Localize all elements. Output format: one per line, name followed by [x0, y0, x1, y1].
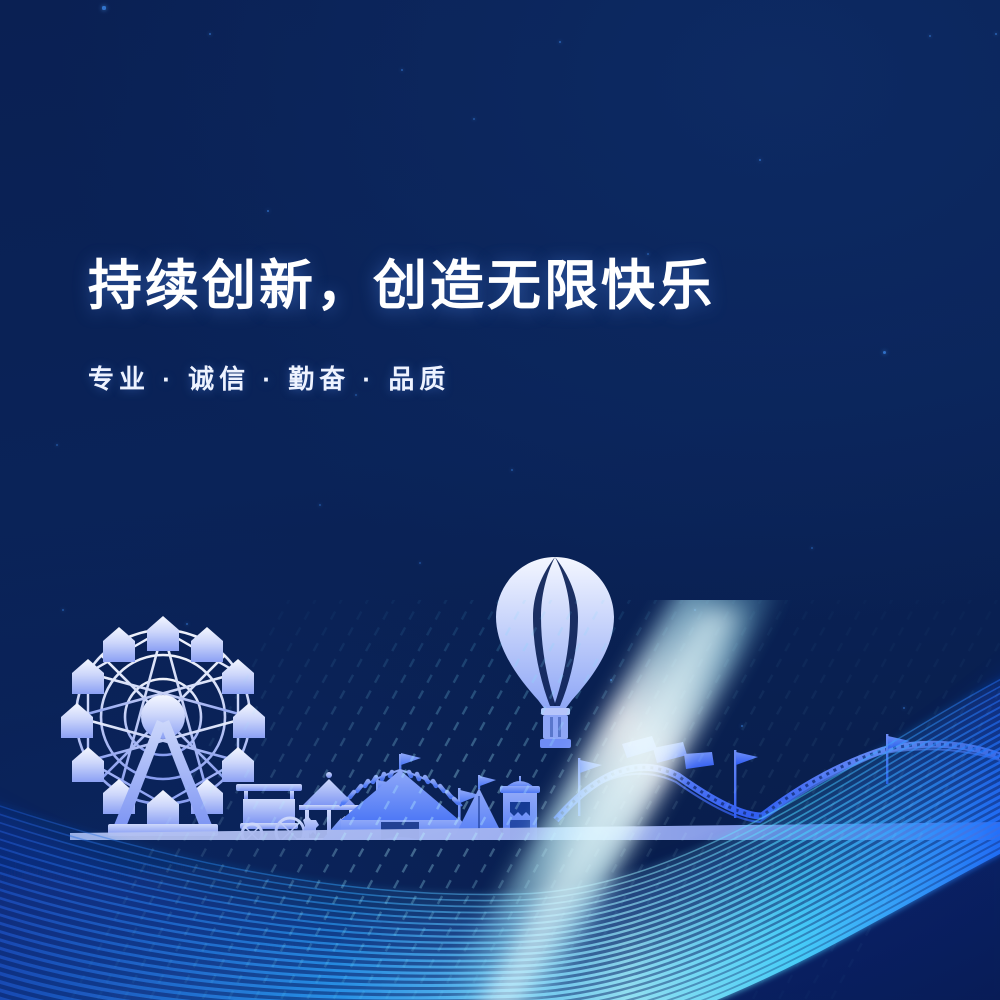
particle-dot: [995, 33, 998, 36]
particle-dot: [473, 118, 475, 120]
page-subtitle: 专业 · 诚信 · 勤奋 · 品质: [88, 359, 908, 396]
glowing-light-wave: [0, 600, 1000, 1000]
particle-dot: [209, 33, 211, 35]
particle-dot: [319, 504, 321, 506]
particle-dot: [559, 41, 562, 44]
particle-dot: [759, 159, 762, 162]
hero-text-block: 持续创新，创造无限快乐 专业 · 诚信 · 勤奋 · 品质: [88, 255, 908, 396]
particle-dot: [102, 6, 105, 9]
particle-dot: [929, 35, 931, 37]
particle-dot: [401, 69, 403, 71]
page-title: 持续创新，创造无限快乐: [88, 255, 908, 319]
banner-canvas: 持续创新，创造无限快乐 专业 · 诚信 · 勤奋 · 品质: [0, 0, 1000, 1000]
particle-dot: [267, 210, 270, 213]
particle-dot: [56, 444, 58, 446]
particle-dot: [511, 469, 513, 471]
